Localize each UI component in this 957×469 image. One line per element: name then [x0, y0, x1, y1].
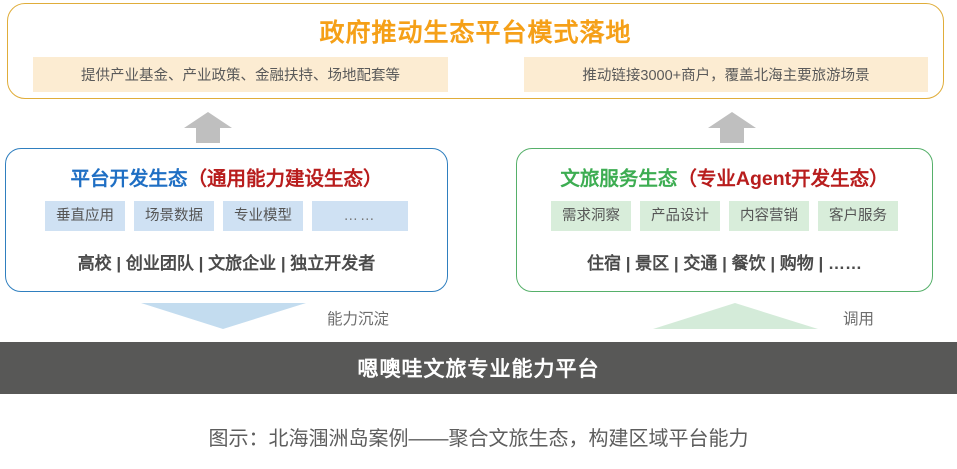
- arrow-up-icon-right: [706, 110, 758, 144]
- ecosystem-panel-platform-dev: 平台开发生态（通用能力建设生态） 垂直应用 场景数据 专业模型 …… 高校 | …: [5, 148, 448, 292]
- government-box-title: 政府推动生态平台模式落地: [8, 13, 943, 49]
- flow-label-capability-deposit: 能力沉淀: [327, 307, 389, 329]
- ecosystem-tag[interactable]: 专业模型: [223, 201, 303, 231]
- ecosystem-heading-platform-dev: 平台开发生态（通用能力建设生态）: [6, 162, 447, 191]
- ecosystem-tag-more[interactable]: ……: [312, 201, 408, 231]
- arrow-down-icon-capability-deposit: [141, 303, 306, 329]
- ecosystem-heading-paren-tourism-service: （专业Agent开发生态）: [677, 168, 888, 190]
- diagram-canvas: 政府推动生态平台模式落地 提供产业基金、产业政策、金融扶持、场地配套等 推动链接…: [0, 0, 957, 469]
- ecosystem-panel-tourism-service: 文旅服务生态（专业Agent开发生态） 需求洞察 产品设计 内容营销 客户服务 …: [516, 148, 933, 292]
- ecosystem-footer-tourism-service: 住宿 | 景区 | 交通 | 餐饮 | 购物 | ……: [517, 249, 932, 274]
- ecosystem-heading-main-tourism-service: 文旅服务生态: [560, 168, 677, 190]
- ecosystem-tag-row-tourism-service: 需求洞察 产品设计 内容营销 客户服务: [517, 201, 932, 231]
- figure-caption: 图示：北海涠洲岛案例——聚合文旅生态，构建区域平台能力: [0, 422, 957, 451]
- ecosystem-tag[interactable]: 客户服务: [818, 201, 898, 231]
- government-subbox-merchants: 推动链接3000+商户，覆盖北海主要旅游场景: [524, 57, 928, 92]
- ecosystem-heading-main-platform-dev: 平台开发生态: [70, 168, 187, 190]
- flow-label-invoke: 调用: [843, 307, 874, 329]
- platform-bar: 嗯噢哇文旅专业能力平台: [0, 342, 957, 394]
- ecosystem-tag[interactable]: 产品设计: [640, 201, 720, 231]
- arrow-up-icon-left: [182, 110, 234, 144]
- ecosystem-tag[interactable]: 垂直应用: [45, 201, 125, 231]
- government-subbox-funding: 提供产业基金、产业政策、金融扶持、场地配套等: [33, 57, 448, 92]
- ecosystem-heading-paren-platform-dev: （通用能力建设生态）: [188, 168, 383, 190]
- government-box: 政府推动生态平台模式落地 提供产业基金、产业政策、金融扶持、场地配套等 推动链接…: [7, 3, 944, 99]
- government-subbox-funding-label: 提供产业基金、产业政策、金融扶持、场地配套等: [81, 64, 400, 85]
- arrow-up-icon-invoke: [653, 303, 818, 329]
- ecosystem-footer-platform-dev: 高校 | 创业团队 | 文旅企业 | 独立开发者: [6, 249, 447, 274]
- ecosystem-tag[interactable]: 场景数据: [134, 201, 214, 231]
- government-subbox-merchants-label: 推动链接3000+商户，覆盖北海主要旅游场景: [582, 64, 869, 85]
- ecosystem-heading-tourism-service: 文旅服务生态（专业Agent开发生态）: [517, 162, 932, 191]
- ecosystem-tag-row-platform-dev: 垂直应用 场景数据 专业模型 ……: [6, 201, 447, 231]
- ecosystem-tag[interactable]: 需求洞察: [551, 201, 631, 231]
- ecosystem-tag[interactable]: 内容营销: [729, 201, 809, 231]
- platform-bar-title: 嗯噢哇文旅专业能力平台: [358, 353, 600, 383]
